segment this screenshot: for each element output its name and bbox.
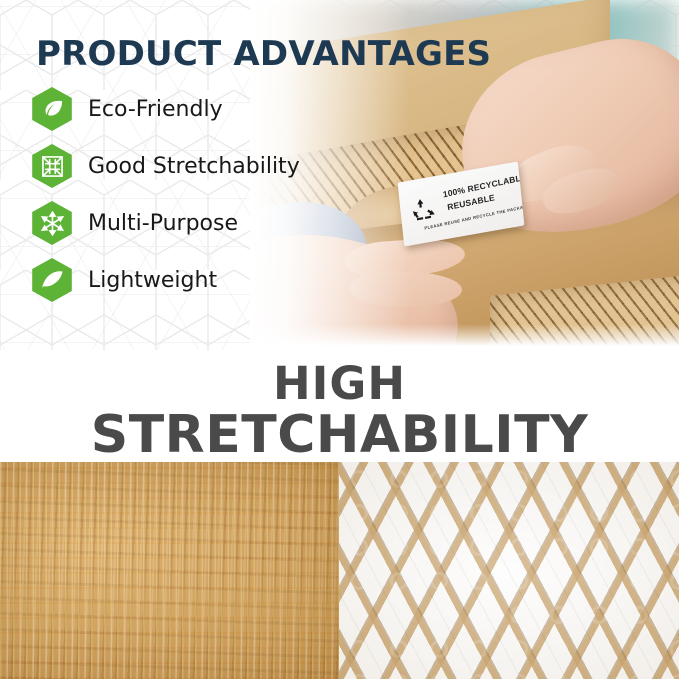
leaf-icon [30,87,74,131]
feature-label: Multi-Purpose [88,211,238,236]
page-title: PRODUCT ADVANTAGES [36,34,491,74]
feather-icon [30,258,74,302]
feature-item-multi-purpose: Multi-Purpose [30,200,300,246]
feature-item-good-stretchability: Good Stretchability [30,143,300,189]
banner-line-1: HIGH [0,360,679,408]
lower-hand-finger-2 [350,271,463,307]
top-section: 100% RECYCLABLE REUSABLE PLEASE REUSE AN… [0,0,679,350]
feature-label: Eco-Friendly [88,97,223,122]
kraft-vignette [0,462,339,679]
product-advantages-infographic: 100% RECYCLABLE REUSABLE PLEASE REUSE AN… [0,0,679,679]
feature-label: Lightweight [88,268,217,293]
stretchability-banner: HIGH STRETCHABILITY [0,350,679,462]
texture-comparison-panels [0,462,679,679]
feature-list: Eco-Friendly Good Stretchability [30,86,300,314]
feature-item-eco-friendly: Eco-Friendly [30,86,300,132]
unstretched-kraft-panel [0,462,339,679]
banner-line-2: STRETCHABILITY [0,408,679,462]
multi-direction-arrows-icon [30,201,74,245]
stretch-arrows-icon [30,144,74,188]
mesh-shading [339,462,679,679]
feature-label: Good Stretchability [88,154,300,179]
stretched-mesh-panel [339,462,679,679]
recycle-icon [407,192,440,227]
feature-item-lightweight: Lightweight [30,257,300,303]
